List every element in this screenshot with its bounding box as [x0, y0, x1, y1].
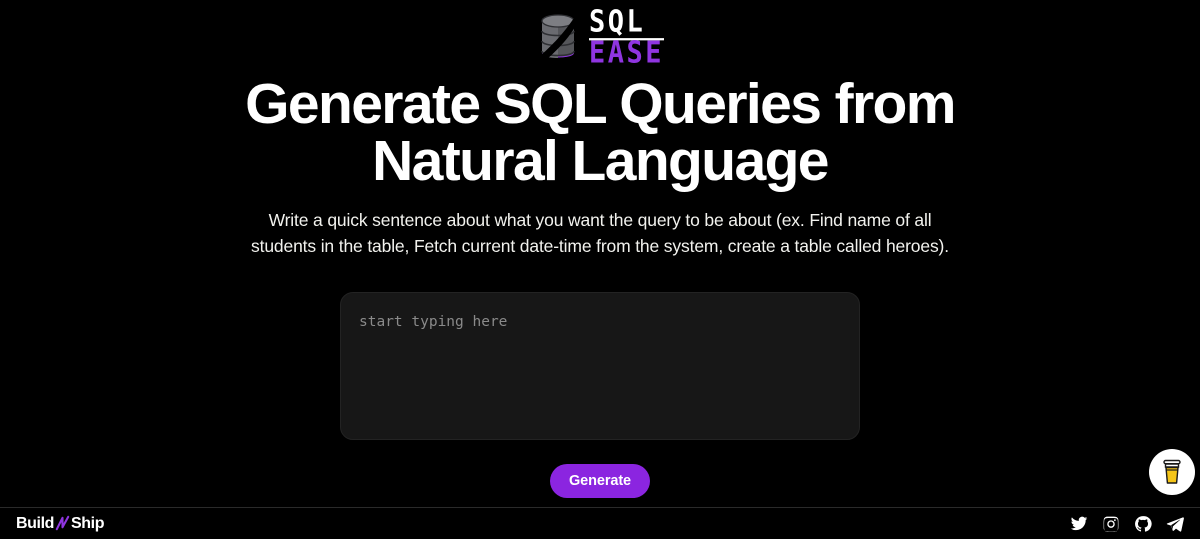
- generate-button[interactable]: Generate: [550, 464, 650, 498]
- database-cylinder-icon: [536, 12, 580, 62]
- brand-text-ship: Ship: [71, 515, 104, 533]
- brand-text-build: Build: [16, 515, 54, 533]
- social-links: [1070, 515, 1184, 533]
- prompt-field-wrapper: [340, 292, 860, 440]
- instagram-icon[interactable]: [1102, 515, 1120, 533]
- page-title: Generate SQL Queries from Natural Langua…: [220, 76, 980, 190]
- page-subtitle: Write a quick sentence about what you wa…: [244, 207, 956, 259]
- logo-text-ease: EASE: [589, 40, 664, 68]
- buildship-brand[interactable]: Build Ship: [16, 514, 104, 533]
- coffee-cup-icon: [1159, 458, 1185, 486]
- telegram-icon[interactable]: [1166, 515, 1184, 533]
- buy-me-a-coffee-button[interactable]: [1149, 449, 1195, 495]
- prompt-input[interactable]: [340, 292, 860, 440]
- github-icon[interactable]: [1134, 515, 1152, 533]
- app-root: SQL EASE Generate SQL Queries from Natur…: [0, 0, 1200, 539]
- app-logo[interactable]: SQL EASE: [536, 11, 664, 63]
- logo-wordmark: SQL EASE: [589, 9, 664, 65]
- twitter-icon[interactable]: [1070, 515, 1088, 533]
- zigzag-bolt-icon: [53, 514, 72, 533]
- site-footer: Build Ship: [0, 507, 1200, 539]
